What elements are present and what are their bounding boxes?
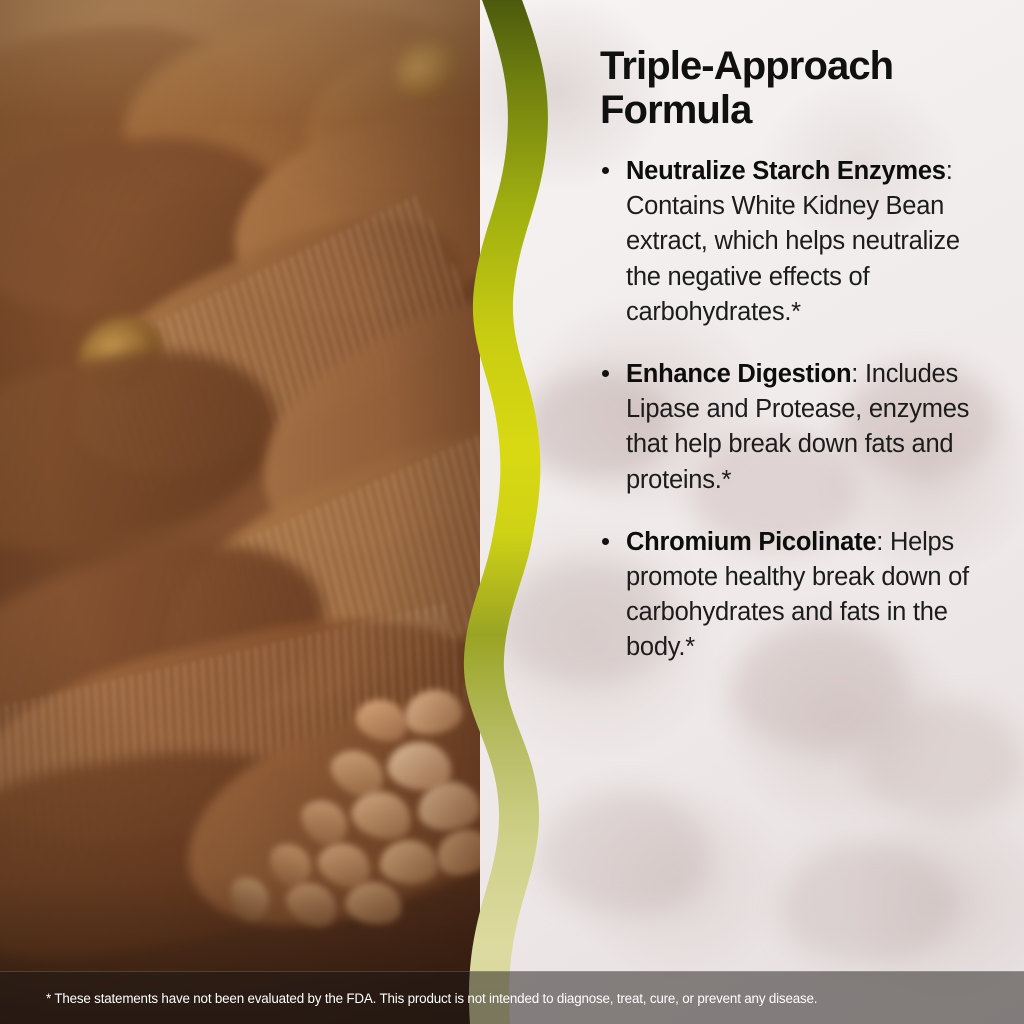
fda-disclaimer-text: * These statements have not been evaluat…	[0, 991, 817, 1006]
benefit-lead: Chromium Picolinate	[626, 528, 876, 556]
benefits-content: Triple-Approach Formula Neutralize Starc…	[600, 44, 992, 665]
benefit-lead: Enhance Digestion	[626, 360, 851, 388]
bullet-dot-icon	[602, 370, 609, 377]
benefit-lead: Neutralize Starch Enzymes	[626, 157, 946, 185]
photo-vignette	[0, 0, 530, 1024]
benefit-separator: :	[851, 360, 865, 388]
benefits-list: Neutralize Starch Enzymes: Contains Whit…	[600, 154, 992, 665]
bullet-dot-icon	[602, 167, 609, 174]
pasta-photo	[0, 0, 530, 1024]
benefit-item-enhance-digestion: Enhance Digestion: Includes Lipase and P…	[600, 357, 992, 498]
fda-disclaimer-bar: * These statements have not been evaluat…	[0, 971, 1024, 1024]
benefit-item-chromium-picolinate: Chromium Picolinate: Helps promote healt…	[600, 525, 992, 666]
page-title: Triple-Approach Formula	[600, 44, 980, 132]
benefit-body: Contains White Kidney Bean extract, whic…	[626, 192, 960, 326]
benefit-item-neutralize-starch-enzymes: Neutralize Starch Enzymes: Contains Whit…	[600, 154, 992, 330]
benefit-separator: :	[876, 528, 890, 556]
product-infographic: Triple-Approach Formula Neutralize Starc…	[0, 0, 1024, 1024]
benefit-separator: :	[946, 157, 953, 185]
bullet-dot-icon	[602, 538, 609, 545]
